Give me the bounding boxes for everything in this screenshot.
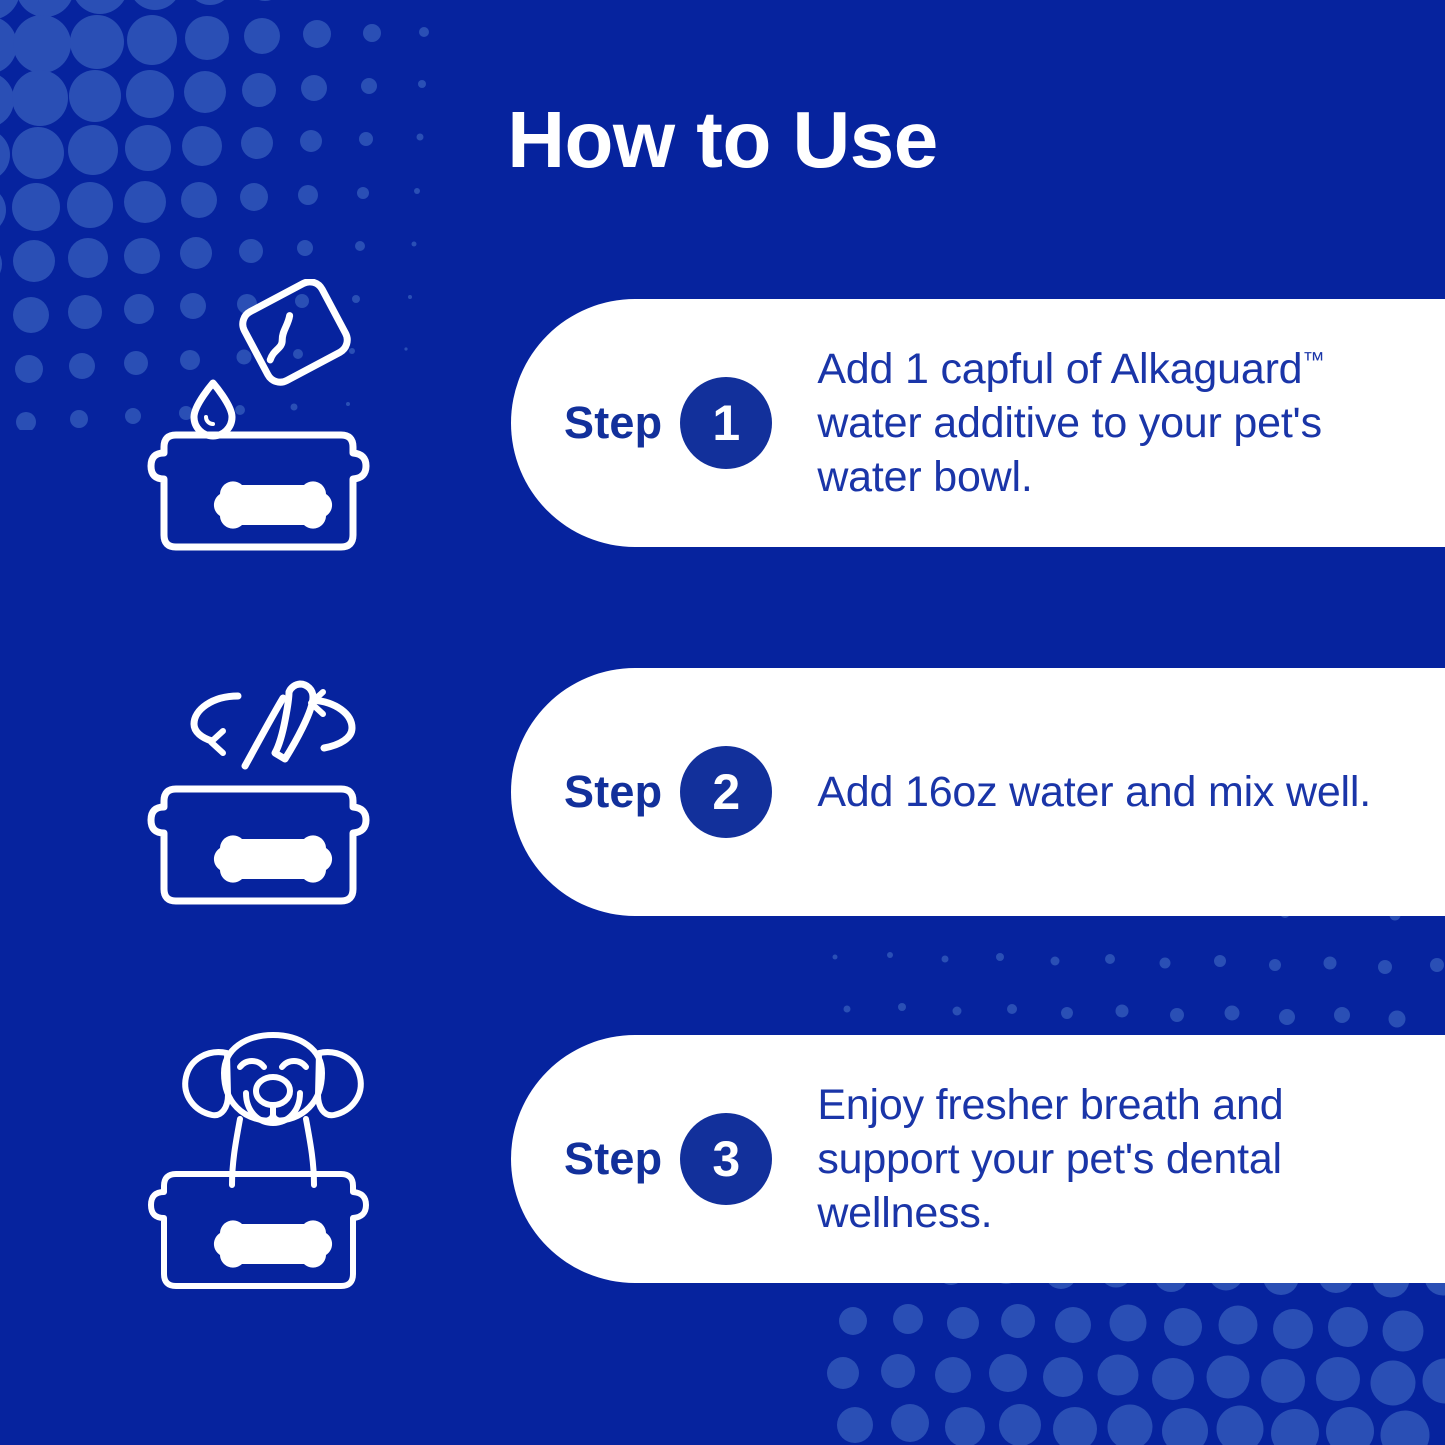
stirring-spoon-in-dog-bowl-icon <box>128 648 418 938</box>
step-text-3: Enjoy fresher breath and support your pe… <box>817 1078 1393 1241</box>
step-label-3: Step <box>564 1133 662 1185</box>
step-text-1-rest: water additive to your pet's water bowl. <box>817 399 1322 501</box>
trademark-symbol: ™ <box>1302 347 1324 372</box>
step-badge-2: 2 <box>680 746 772 838</box>
step-card-2[interactable]: Step 2 Add 16oz water and mix well. <box>511 668 1445 916</box>
step-row-1: Step 1 Add 1 capful of Alkaguard™ water … <box>0 299 1445 547</box>
step-text-2: Add 16oz water and mix well. <box>817 765 1371 819</box>
step-badge-3: 3 <box>680 1113 772 1205</box>
step-label-2: Step <box>564 766 662 818</box>
step-label-1: Step <box>564 397 662 449</box>
how-to-use-infographic: How to Use Ste <box>0 0 1445 1445</box>
step-text-1: Add 1 capful of Alkaguard™ water additiv… <box>817 342 1393 505</box>
happy-dog-at-bowl-icon <box>128 1015 418 1305</box>
step-card-1[interactable]: Step 1 Add 1 capful of Alkaguard™ water … <box>511 299 1445 547</box>
step-text-1-main: Add 1 capful of Alkaguard <box>817 345 1302 393</box>
step-card-3[interactable]: Step 3 Enjoy fresher breath and support … <box>511 1035 1445 1283</box>
step-row-3: Step 3 Enjoy fresher breath and support … <box>0 1035 1445 1283</box>
step-row-2: Step 2 Add 16oz water and mix well. <box>0 668 1445 916</box>
cap-pouring-droplet-into-dog-bowl-icon <box>128 279 418 569</box>
step-badge-1: 1 <box>680 377 772 469</box>
page-title: How to Use <box>0 100 1445 180</box>
